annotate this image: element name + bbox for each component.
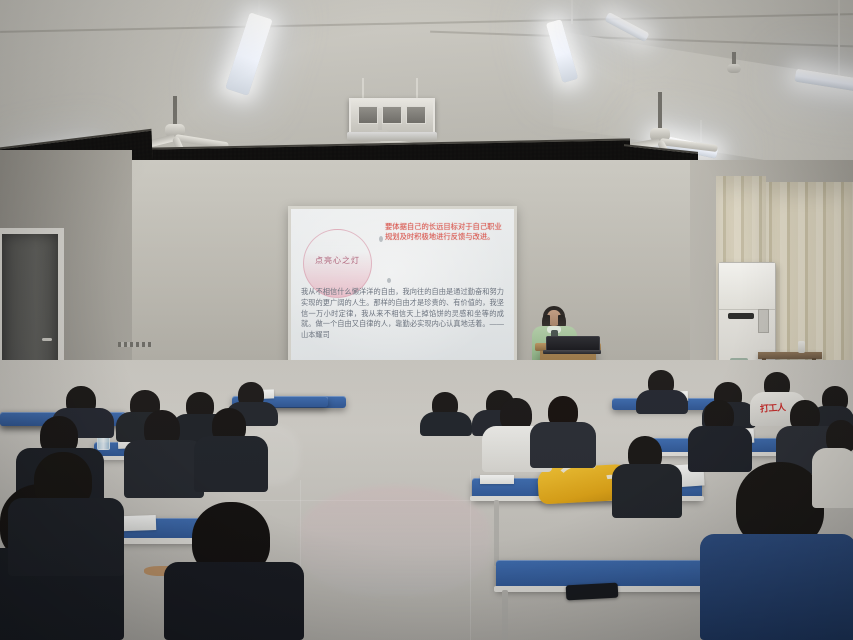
light-stem bbox=[571, 0, 573, 24]
projector-hanger bbox=[362, 78, 364, 100]
cup bbox=[798, 341, 805, 353]
laptop-base[interactable] bbox=[543, 350, 601, 354]
desk-leg bbox=[494, 500, 499, 566]
slide-reflection-on-floor bbox=[300, 486, 490, 596]
shirt-print-text: 打工人 bbox=[760, 403, 786, 414]
door-handle[interactable] bbox=[42, 338, 52, 341]
slide-circle-label: 点亮心之灯 bbox=[304, 255, 371, 266]
projector-icon bbox=[349, 98, 435, 136]
projected-slide: 点亮心之灯 要体据自己的长远目标对于自己职业规划及时积极地进行反馈与改进。 我从… bbox=[291, 209, 514, 375]
light-stem bbox=[838, 0, 840, 78]
handout-paper bbox=[480, 475, 514, 484]
ceiling-fan bbox=[600, 92, 720, 144]
slide-body-text: 我从不相信什么懒洋洋的自由，我向往的自由是通过勤奋和努力实现的更广阔的人生。那样… bbox=[301, 287, 504, 341]
slide-speck bbox=[387, 278, 391, 283]
ceiling-fan bbox=[714, 52, 754, 78]
slide-speck bbox=[379, 236, 383, 242]
wall-outlet bbox=[118, 342, 152, 347]
classroom-photo: 点亮心之灯 要体据自己的长远目标对于自己职业规划及时积极地进行反馈与改进。 我从… bbox=[0, 0, 853, 640]
slide-heading: 要体据自己的长远目标对于自己职业规划及时积极地进行反馈与改进。 bbox=[385, 222, 505, 242]
desk-leg bbox=[502, 590, 508, 640]
projector-hanger bbox=[416, 78, 418, 100]
smartphone[interactable] bbox=[566, 583, 619, 601]
